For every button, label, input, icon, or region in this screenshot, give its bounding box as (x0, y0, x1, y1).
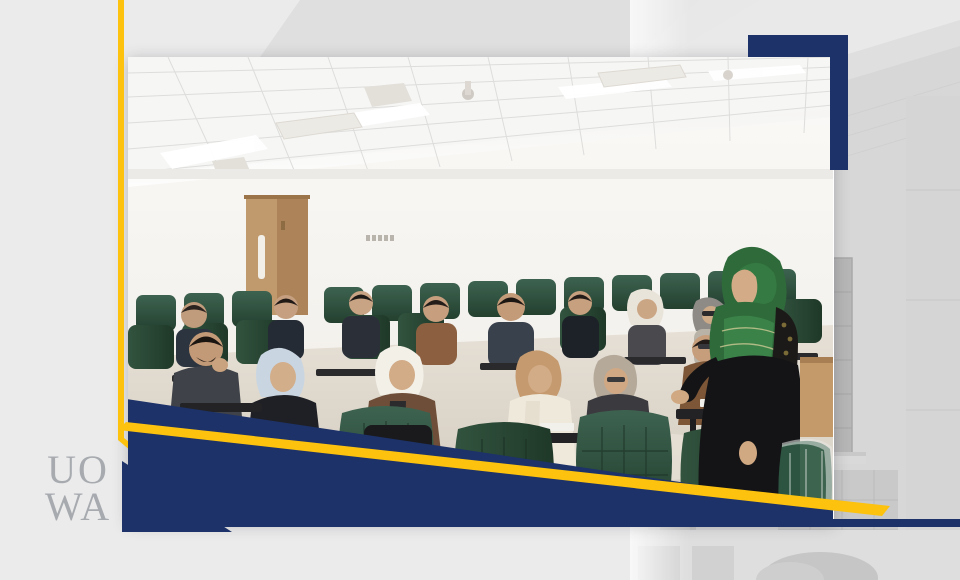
poster-canvas: UO WA (0, 0, 960, 580)
seminar-photograph (128, 57, 833, 522)
uowa-logo: UO WA (26, 452, 130, 530)
logo-text-line2: WA (26, 489, 130, 526)
